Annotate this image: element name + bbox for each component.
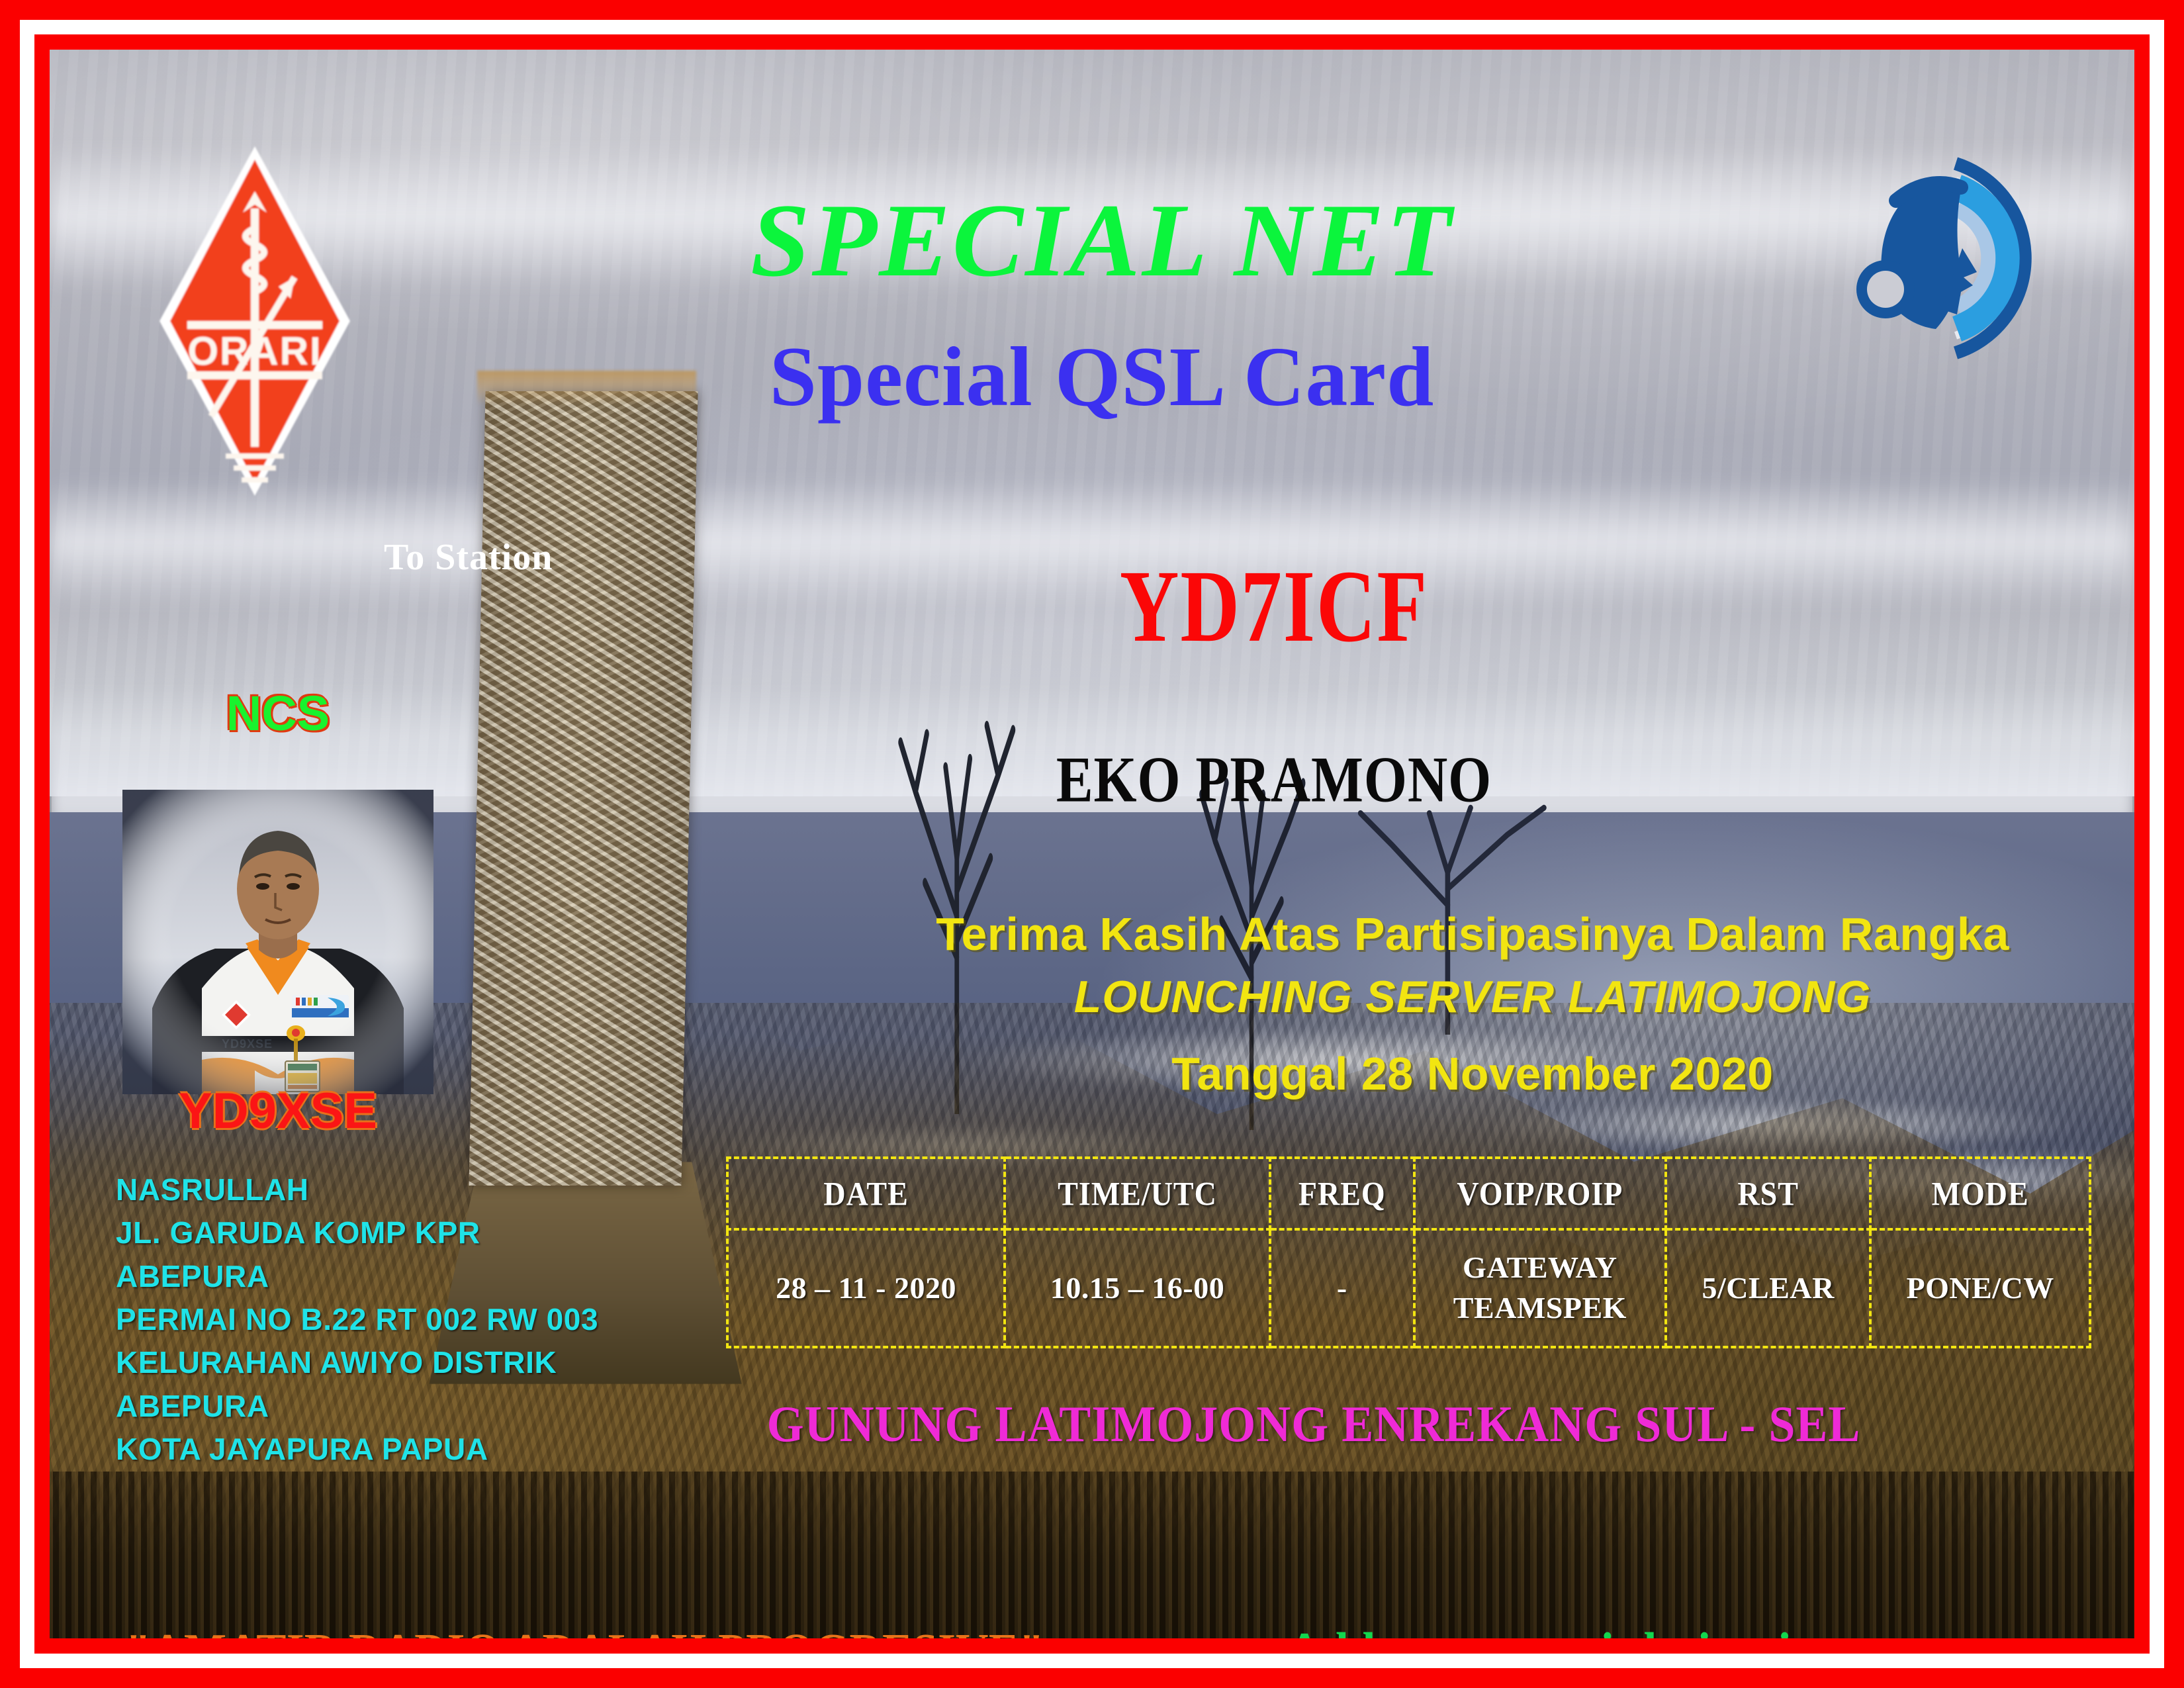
- address-line: JL. GARUDA KOMP KPR: [116, 1211, 711, 1254]
- table-header-row: DATE TIME/UTC FREQ VOIP/ROIP RST MODE: [727, 1158, 2090, 1229]
- foreground-grass-fibers: [50, 1472, 2134, 1638]
- orari-logo-text: ORARI: [187, 329, 322, 373]
- qsl-card-photo-panel: ORARI: [50, 50, 2134, 1638]
- footer-slogan: "AMATIR RADIO ADALAH PROGRESIVE": [126, 1622, 1044, 1638]
- table-cell-time: 10.15 – 16-00: [1005, 1229, 1270, 1347]
- table-cell-rst: 5/CLEAR: [1666, 1229, 1870, 1347]
- table-header-date: DATE: [727, 1154, 1005, 1233]
- address-line: PERMAI NO B.22 RT 002 RW 003: [116, 1298, 711, 1341]
- table-cell-voip-roip: GATEWAY TEAMSPEK: [1414, 1229, 1666, 1347]
- foreground-dark-strip: [50, 1472, 2134, 1638]
- table-header-rst: RST: [1666, 1154, 1870, 1233]
- table-header-freq: FREQ: [1270, 1154, 1414, 1233]
- table-header-mode: MODE: [1870, 1154, 2090, 1233]
- thanks-line-2: LOUNCHING SERVER LATIMOJONG: [778, 964, 2134, 1030]
- headset-operator-logo: [1856, 149, 2088, 367]
- table-cell-mode: PONE/CW: [1870, 1229, 2090, 1347]
- operator-name: EKO PRAMONO: [866, 748, 1683, 814]
- stone-monument-pillar: [469, 391, 698, 1186]
- table-header-time: TIME/UTC: [1005, 1154, 1270, 1233]
- page-subtitle: Special QSL Card: [473, 334, 1731, 419]
- station-address: NASRULLAH JL. GARUDA KOMP KPR ABEPURA PE…: [116, 1168, 711, 1471]
- thanks-line-3: Tanggal 28 November 2020: [778, 1043, 2134, 1104]
- table-row: 28 – 11 - 2020 10.15 – 16-00 - GATEWAY T…: [727, 1229, 2090, 1347]
- qso-details-table: DATE TIME/UTC FREQ VOIP/ROIP RST MODE 28…: [726, 1156, 2091, 1348]
- address-line: NASRULLAH: [116, 1168, 711, 1211]
- address-line: KOTA JAYAPURA PAPUA: [116, 1428, 711, 1471]
- recipient-callsign: YD7ICF: [932, 555, 1616, 658]
- location-caption: GUNUNG LATIMOJONG ENREKANG SUL - SEL: [685, 1395, 1942, 1454]
- address-line: KELURAHAN AWIYO DISTRIK: [116, 1341, 711, 1384]
- footer-website: Address : amatir.latimojong.com: [1287, 1621, 1964, 1638]
- to-station-label: To Station: [384, 536, 553, 579]
- table-cell-freq: -: [1270, 1229, 1414, 1347]
- table-cell-date: 28 – 11 - 2020: [727, 1229, 1005, 1347]
- ncs-label: NCS: [179, 685, 377, 741]
- ncs-operator-photo: YD9XSE: [122, 790, 433, 1094]
- thanks-line-1: Terima Kasih Atas Partisipasinya Dalam R…: [778, 904, 2134, 964]
- orari-logo: ORARI: [149, 136, 361, 506]
- table-header-voip-roip: VOIP/ROIP: [1414, 1154, 1666, 1233]
- ncs-callsign: YD9XSE: [129, 1082, 427, 1140]
- page-title: SPECIAL NET: [461, 189, 1743, 293]
- address-line: ABEPURA: [116, 1255, 711, 1298]
- address-line: ABEPURA: [116, 1385, 711, 1428]
- thanks-block: Terima Kasih Atas Partisipasinya Dalam R…: [778, 904, 2134, 1104]
- qsl-card-outer-frame: ORARI: [0, 0, 2184, 1688]
